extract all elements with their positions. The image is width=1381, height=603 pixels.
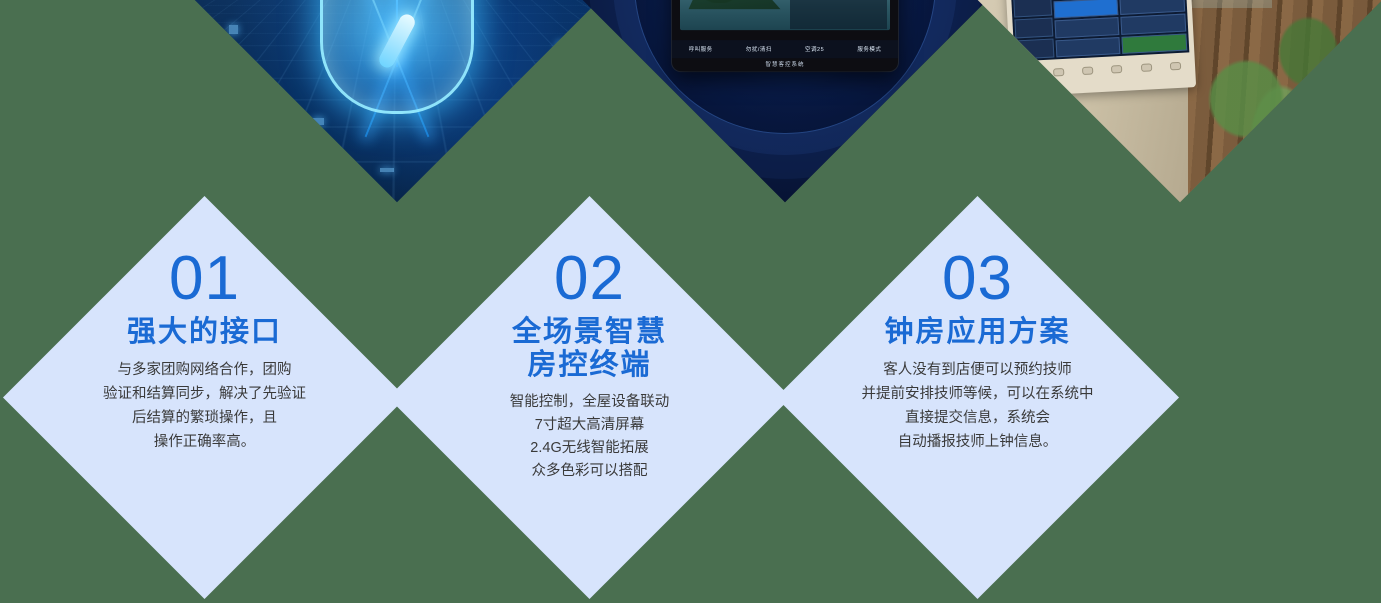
potted-plant (1188, 0, 1381, 193)
tablet-bottom-bar: 呼叫服务 勿扰/清扫 空调25 服务模式 (672, 40, 898, 58)
tablet-btn-0: 呼叫服务 (689, 45, 713, 53)
card-2-description: 智能控制，全屋设备联动 7寸超大高清屏幕 2.4G无线智能拓展 众多色彩可以搭配 (425, 391, 755, 483)
card-3[interactable]: 03 钟房应用方案 客人没有到店便可以预约技师 并提前安排技师等候，可以在系统中… (776, 196, 1179, 599)
tablet-screen: 22:35 SPA包房 25℃ 11/24 (680, 0, 890, 30)
tablet-device: 22:35 SPA包房 25℃ 11/24 呼叫服务 勿扰/清扫 空调25 (672, 0, 898, 71)
tablet-btn-1: 勿扰/清扫 (746, 45, 772, 53)
tablet-brand: 智慧客控系统 (672, 58, 898, 70)
card-2-title: 全场景智慧 房控终端 (425, 316, 755, 382)
card-1-description: 与多家团购网络合作，团购 验证和结算同步，解决了先验证 后结算的繁琐操作，且 操… (39, 358, 369, 454)
card-image-3 (978, 0, 1381, 202)
card-2-number: 02 (425, 248, 755, 310)
wall-mounted-control-panel-photo-icon (978, 0, 1381, 202)
card-image-2: 22:35 SPA包房 25℃ 11/24 呼叫服务 勿扰/清扫 空调25 (583, 0, 987, 202)
tablet-btn-3: 服务模式 (857, 45, 881, 53)
card-1-content: 01 强大的接口 与多家团购网络合作，团购 验证和结算同步，解决了先验证 后结算… (39, 248, 369, 548)
clock-panel: 22:35 SPA包房 25℃ 11/24 (790, 0, 887, 29)
diamond-feature-board: 22:35 SPA包房 25℃ 11/24 呼叫服务 勿扰/清扫 空调25 (0, 0, 1381, 603)
card-3-number: 03 (798, 248, 1158, 310)
wall-control-panel (1005, 0, 1196, 97)
card-2[interactable]: 02 全场景智慧 房控终端 智能控制，全屋设备联动 7寸超大高清屏幕 2.4G无… (388, 196, 791, 599)
card-3-title: 钟房应用方案 (798, 316, 1158, 349)
blue-circuit-shield-hologram-icon (195, 0, 599, 202)
tablet-btn-2: 空调25 (805, 45, 824, 53)
card-1-number: 01 (40, 248, 370, 310)
card-3-description: 客人没有到店便可以预约技师 并提前安排技师等候，可以在系统中 直接提交信息，系统… (798, 358, 1158, 454)
card-2-content: 02 全场景智慧 房控终端 智能控制，全屋设备联动 7寸超大高清屏幕 2.4G无… (425, 248, 755, 548)
card-image-1 (195, 0, 599, 202)
card-3-content: 03 钟房应用方案 客人没有到店便可以预约技师 并提前安排技师等候，可以在系统中… (798, 248, 1158, 548)
card-1[interactable]: 01 强大的接口 与多家团购网络合作，团购 验证和结算同步，解决了先验证 后结算… (3, 196, 406, 599)
card-1-title: 强大的接口 (39, 316, 369, 349)
smart-room-control-tablet-icon: 22:35 SPA包房 25℃ 11/24 呼叫服务 勿扰/清扫 空调25 (583, 0, 987, 202)
